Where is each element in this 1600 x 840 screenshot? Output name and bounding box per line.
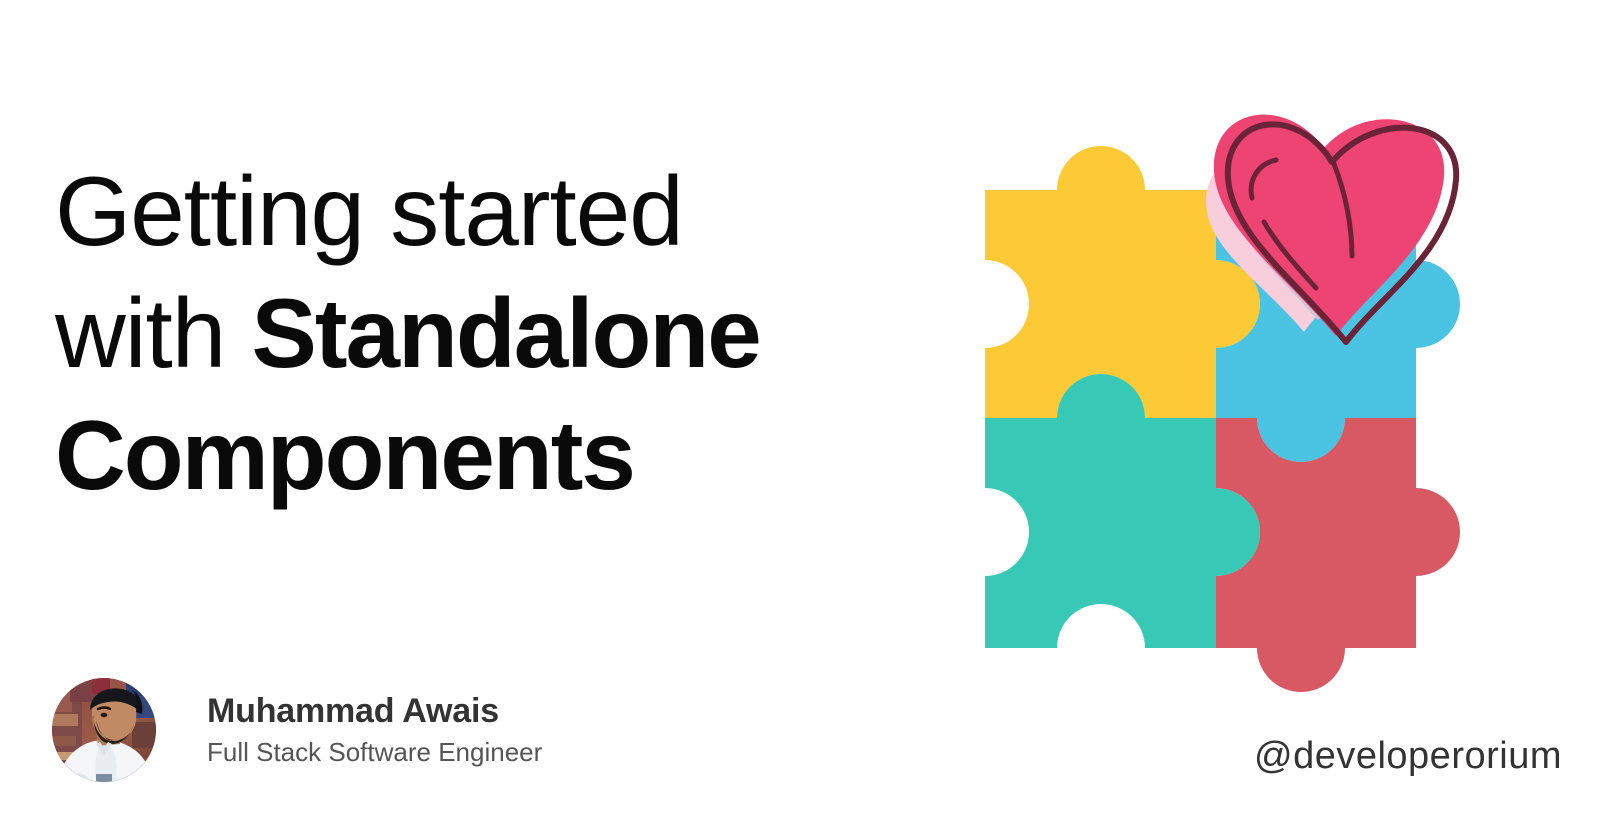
page-title: Getting started with Standalone Componen… bbox=[55, 150, 915, 516]
author-name: Muhammad Awais bbox=[207, 690, 542, 732]
author-role: Full Stack Software Engineer bbox=[207, 734, 542, 770]
title-line-3: Components bbox=[55, 394, 915, 516]
social-handle: @developerorium bbox=[1254, 735, 1562, 778]
puzzle-pieces-icon bbox=[900, 70, 1520, 720]
avatar bbox=[52, 678, 156, 782]
title-line-2-thin: with bbox=[55, 278, 252, 388]
author-block: Muhammad Awais Full Stack Software Engin… bbox=[52, 678, 542, 782]
author-text: Muhammad Awais Full Stack Software Engin… bbox=[207, 690, 542, 770]
avatar-photo-icon bbox=[52, 678, 156, 782]
title-line-2: with Standalone bbox=[55, 272, 915, 394]
title-line-1: Getting started bbox=[55, 150, 915, 272]
puzzle-heart-artwork bbox=[900, 70, 1520, 720]
title-line-2-bold: Standalone bbox=[252, 278, 760, 388]
slide-canvas: Getting started with Standalone Componen… bbox=[0, 0, 1600, 840]
